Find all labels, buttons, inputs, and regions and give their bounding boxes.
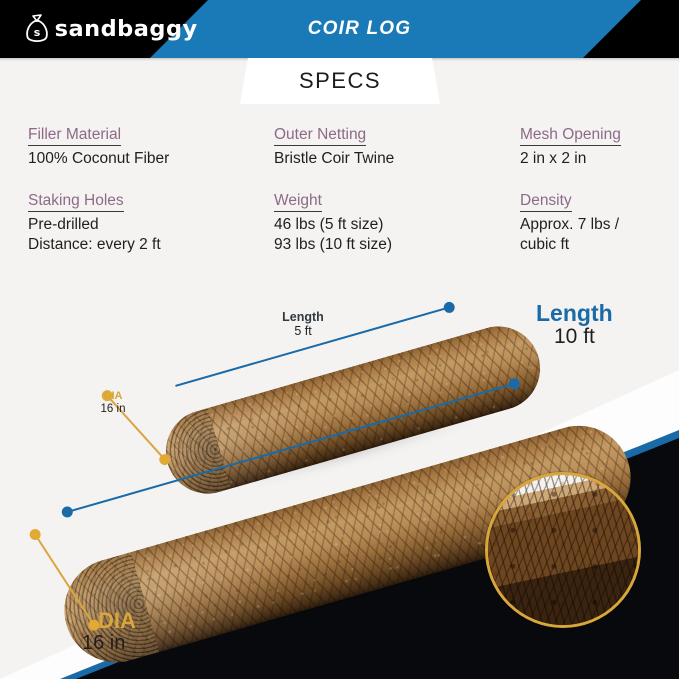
spec-weight: Weight 46 lbs (5 ft size)93 lbs (10 ft s… — [274, 191, 520, 255]
callout-value: 5 ft — [258, 324, 348, 338]
callout-length-10ft: Length 10 ft — [536, 301, 656, 349]
product-illustration: Length 5 ft Length 10 ft DIA 16 in DIA 1… — [0, 275, 679, 679]
spec-density: Density Approx. 7 lbs /cubic ft — [520, 191, 651, 255]
spec-value: 2 in x 2 in — [520, 149, 651, 169]
coir-texture-closeup-inset — [485, 472, 641, 628]
brand-logo[interactable]: s sandbaggy — [24, 14, 196, 44]
spec-label: Mesh Opening — [520, 125, 621, 146]
callout-value: 10 ft — [536, 325, 656, 349]
specs-row: Filler Material 100% Coconut Fiber Outer… — [28, 125, 651, 169]
specs-grid: Filler Material 100% Coconut Fiber Outer… — [0, 125, 679, 255]
svg-text:s: s — [34, 26, 41, 39]
spec-label: Outer Netting — [274, 125, 366, 146]
spec-value: Approx. 7 lbs /cubic ft — [520, 215, 651, 255]
specs-tab-label: SPECS — [299, 68, 381, 94]
callout-value: 16 in — [76, 632, 186, 655]
callout-title: Length — [258, 311, 348, 324]
callout-title: Length — [536, 301, 656, 325]
spec-value: 100% Coconut Fiber — [28, 149, 274, 169]
specs-tab[interactable]: SPECS — [240, 58, 440, 104]
callout-diameter-10ft: DIA 16 in — [76, 609, 186, 655]
spec-label: Staking Holes — [28, 191, 124, 212]
callout-diameter-5ft: DIA 16 in — [86, 391, 140, 416]
callout-value: 16 in — [86, 403, 140, 416]
spec-label: Weight — [274, 191, 322, 212]
spec-filler-material: Filler Material 100% Coconut Fiber — [28, 125, 274, 169]
sandbag-icon: s — [24, 14, 50, 44]
spec-value: 46 lbs (5 ft size)93 lbs (10 ft size) — [274, 215, 520, 255]
spec-staking-holes: Staking Holes Pre-drilledDistance: every… — [28, 191, 274, 255]
callout-title: DIA — [86, 391, 140, 403]
closeup-image — [485, 472, 641, 628]
spec-label: Density — [520, 191, 572, 212]
callout-length-5ft: Length 5 ft — [258, 311, 348, 339]
brand-name: sandbaggy — [55, 17, 198, 42]
spec-value: Bristle Coir Twine — [274, 149, 520, 169]
callout-title: DIA — [76, 609, 186, 632]
spec-mesh-opening: Mesh Opening 2 in x 2 in — [520, 125, 651, 169]
specs-row: Staking Holes Pre-drilledDistance: every… — [28, 191, 651, 255]
spec-value: Pre-drilledDistance: every 2 ft — [28, 215, 274, 255]
spec-outer-netting: Outer Netting Bristle Coir Twine — [274, 125, 520, 169]
spec-sheet: COIR LOG s sandbaggy SPECS Filler Materi… — [0, 0, 679, 679]
header-bar: COIR LOG s sandbaggy — [0, 0, 679, 58]
closeup-texture — [485, 472, 641, 628]
spec-label: Filler Material — [28, 125, 121, 146]
